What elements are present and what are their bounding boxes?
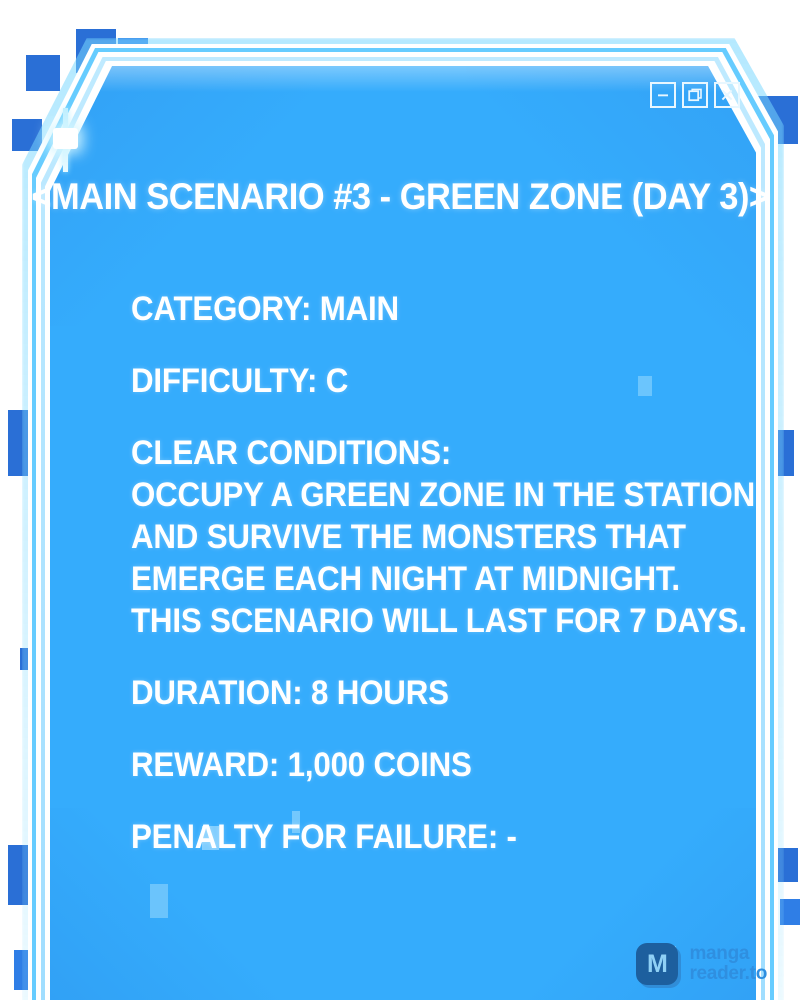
decor-block-left-e [14, 950, 42, 990]
detail-penalty: PENALTY FOR FAILURE: - [131, 816, 683, 858]
decor-block-top-right [654, 46, 671, 58]
decor-block-left-c [20, 648, 33, 670]
decor-block-right-a [758, 96, 798, 144]
watermark-line-1: manga [689, 944, 767, 964]
detail-clear-conditions-label: CLEAR CONDITIONS: [131, 432, 683, 474]
scenario-window: <MAIN SCENARIO #3 - GREEN ZONE (DAY 3)> … [0, 0, 800, 1000]
detail-category: CATEGORY: MAIN [131, 288, 683, 330]
detail-clear-conditions-line-4: THIS SCENARIO WILL LAST FOR 7 DAYS. [131, 600, 683, 642]
minimize-icon [656, 88, 670, 102]
watermark-text: manga reader.to [689, 944, 767, 984]
detail-clear-conditions-line-1: OCCUPY A GREEN ZONE IN THE STATION [131, 474, 683, 516]
hud-node-dot [53, 128, 78, 149]
watermark-logo: M [636, 943, 678, 985]
detail-reward: REWARD: 1,000 COINS [131, 744, 683, 786]
decor-block-top-left-a [76, 29, 116, 73]
detail-difficulty: DIFFICULTY: C [131, 360, 683, 402]
maximize-icon [688, 88, 703, 103]
watermark: M manga reader.to [636, 943, 767, 985]
window-controls [650, 82, 740, 108]
page-title: <MAIN SCENARIO #3 - GREEN ZONE (DAY 3)> [28, 176, 772, 218]
close-icon [720, 88, 734, 102]
maximize-button[interactable] [682, 82, 708, 108]
decor-block-left-d [8, 845, 38, 905]
close-button[interactable] [714, 82, 740, 108]
decor-block-right-c [772, 848, 798, 882]
detail-clear-conditions-line-2: AND SURVIVE THE MONSTERS THAT [131, 516, 683, 558]
minimize-button[interactable] [650, 82, 676, 108]
decor-block-left-a [12, 119, 42, 151]
decor-block-right-d [780, 899, 800, 925]
decor-block-left-b [8, 410, 44, 476]
decor-block-right-b [770, 430, 794, 476]
detail-clear-conditions-line-3: EMERGE EACH NIGHT AT MIDNIGHT. [131, 558, 683, 600]
detail-duration: DURATION: 8 HOURS [131, 672, 683, 714]
decor-block-top-left-c [26, 55, 60, 91]
watermark-line-2: reader.to [689, 964, 767, 984]
scenario-details: CATEGORY: MAIN DIFFICULTY: C CLEAR CONDI… [131, 288, 683, 858]
